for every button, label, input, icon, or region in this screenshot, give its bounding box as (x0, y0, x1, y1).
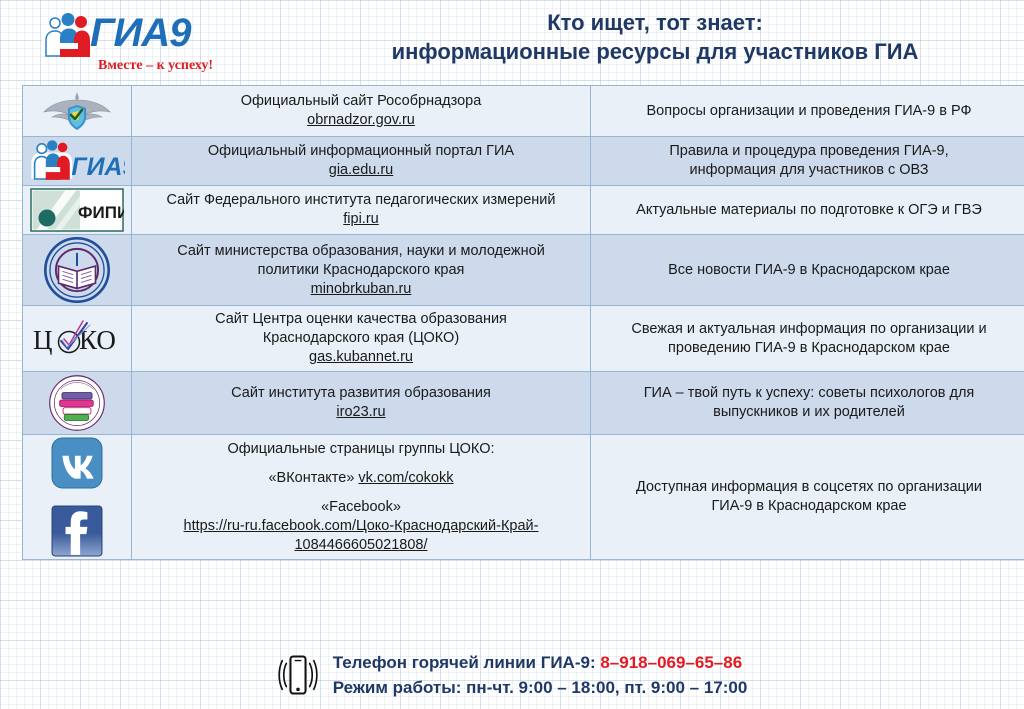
row-logo-cell (23, 86, 132, 137)
desc-line: политики Краснодарского края (138, 261, 584, 280)
minobr-kuban-emblem-icon (44, 237, 110, 303)
site-link[interactable]: iro23.ru (138, 403, 584, 422)
svg-text:КО: КО (79, 325, 116, 355)
facebook-icon[interactable] (51, 505, 103, 557)
hotline-number: 8–918–069–65–86 (600, 653, 742, 672)
row-note-cell: Свежая и актуальная информация по органи… (591, 306, 1024, 372)
gia9-logo-word: ГИА9 (90, 10, 190, 56)
mobile-phone-ringing-icon (277, 651, 319, 699)
gia9-brand-logo: ГИА9 Вместе – к успеху! (34, 6, 214, 74)
row-logo-cell: ФИПИ (23, 186, 132, 235)
desc-line: Официальные страницы группы ЦОКО: (138, 440, 584, 459)
row-note-cell: Актуальные материалы по подготовке к ОГЭ… (591, 186, 1024, 235)
page-title-line1: Кто ищет, тот знает: (300, 8, 1010, 37)
row-note-cell: Все новости ГИА-9 в Краснодарском крае (591, 235, 1024, 306)
resources-table: Официальный сайт Рособрнадзора obrnadzor… (22, 85, 1024, 560)
row-logo-cell (23, 435, 132, 560)
site-link[interactable]: gia.edu.ru (138, 161, 584, 180)
rosobrnadzor-emblem-icon (42, 88, 112, 134)
row-description-cell: Официальный сайт Рособрнадзора obrnadzor… (132, 86, 591, 137)
table-row: Сайт министерства образования, науки и м… (23, 235, 1024, 306)
gia9-logo-tagline: Вместе – к успеху! (98, 58, 213, 74)
note-line: ГИА – твой путь к успеху: советы психоло… (597, 384, 1021, 403)
row-logo-cell: Ц КО (23, 306, 132, 372)
gia9-logo-icon: ГИА9 (29, 139, 125, 183)
note-line: ГИА-9 в Краснодарском крае (597, 497, 1021, 516)
vk-icon[interactable] (51, 437, 103, 489)
table-row: Официальный сайт Рособрнадзора obrnadzor… (23, 86, 1024, 137)
table-row: Ц КО Сайт Центра оценки качества образов… (23, 306, 1024, 372)
table-row: ФИПИ Сайт Федерального института педагог… (23, 186, 1024, 235)
site-link[interactable]: obrnadzor.gov.ru (138, 111, 584, 130)
fb-link-line2[interactable]: 1084466605021808/ (138, 536, 584, 555)
gia9-people-icon (38, 12, 96, 58)
vk-link[interactable]: vk.com/cokokk (358, 470, 453, 486)
desc-line: Сайт института развития образования (138, 384, 584, 403)
note-line: выпускников и их родителей (597, 403, 1021, 422)
vk-label: «ВКонтакте» (268, 470, 354, 486)
desc-line: Краснодарского края (ЦОКО) (138, 329, 584, 348)
row-description-cell: Сайт Центра оценки качества образования … (132, 306, 591, 372)
vk-line: «ВКонтакте» vk.com/cokokk (138, 469, 584, 488)
hotline-footer: Телефон горячей линии ГИА-9: 8–918–069–6… (0, 645, 1024, 705)
row-description-cell: Сайт министерства образования, науки и м… (132, 235, 591, 306)
hotline-hours: Режим работы: пн-чт. 9:00 – 18:00, пт. 9… (333, 675, 748, 700)
page-title: Кто ищет, тот знает: информационные ресу… (300, 8, 1010, 66)
note-line: Вопросы организации и проведения ГИА-9 в… (597, 102, 1021, 121)
fb-label: «Facebook» (138, 498, 584, 517)
table-row: ГИА9 Официальный информационный портал Г… (23, 137, 1024, 186)
desc-line: Сайт министерства образования, науки и м… (138, 242, 584, 261)
table-row: Сайт института развития образования iro2… (23, 372, 1024, 435)
spacer (138, 459, 584, 469)
note-line: Все новости ГИА-9 в Краснодарском крае (597, 261, 1021, 280)
fipi-logo-icon: ФИПИ (30, 188, 124, 232)
note-line: Правила и процедура проведения ГИА-9, (597, 142, 1021, 161)
iro23-emblem-icon (48, 374, 106, 432)
site-link[interactable]: fipi.ru (138, 210, 584, 229)
svg-text:ГИА9: ГИА9 (71, 154, 125, 181)
row-logo-cell: ГИА9 (23, 137, 132, 186)
desc-line: Сайт Федерального института педагогическ… (138, 191, 584, 210)
svg-text:Ц: Ц (33, 325, 53, 355)
fb-link-line1[interactable]: https://ru-ru.facebook.com/Цоко-Краснода… (138, 517, 584, 536)
note-line: Актуальные материалы по подготовке к ОГЭ… (597, 201, 1021, 220)
hotline-text: Телефон горячей линии ГИА-9: 8–918–069–6… (333, 650, 748, 700)
desc-line: Официальный сайт Рособрнадзора (138, 92, 584, 111)
note-line: Доступная информация в соцсетях по орган… (597, 478, 1021, 497)
row-description-cell: Официальные страницы группы ЦОКО: «ВКонт… (132, 435, 591, 560)
row-logo-cell (23, 372, 132, 435)
page-title-line2: информационные ресурсы для участников ГИ… (300, 37, 1010, 66)
note-line: информация для участников с ОВЗ (597, 161, 1021, 180)
site-link[interactable]: gas.kubannet.ru (138, 348, 584, 367)
row-description-cell: Сайт института развития образования iro2… (132, 372, 591, 435)
row-logo-cell (23, 235, 132, 306)
row-note-cell: ГИА – твой путь к успеху: советы психоло… (591, 372, 1024, 435)
row-description-cell: Официальный информационный портал ГИА gi… (132, 137, 591, 186)
coko-logo-icon: Ц КО (31, 316, 123, 362)
desc-line: Сайт Центра оценки качества образования (138, 310, 584, 329)
page-header: ГИА9 Вместе – к успеху! Кто ищет, тот зн… (0, 0, 1024, 80)
row-note-cell: Правила и процедура проведения ГИА-9, ин… (591, 137, 1024, 186)
note-line: проведению ГИА-9 в Краснодарском крае (597, 339, 1021, 358)
row-note-cell: Доступная информация в соцсетях по орган… (591, 435, 1024, 560)
row-description-cell: Сайт Федерального института педагогическ… (132, 186, 591, 235)
hotline-label: Телефон горячей линии ГИА-9: (333, 653, 601, 672)
table-row: Официальные страницы группы ЦОКО: «ВКонт… (23, 435, 1024, 560)
site-link[interactable]: minobrkuban.ru (138, 280, 584, 299)
note-line: Свежая и актуальная информация по органи… (597, 320, 1021, 339)
row-note-cell: Вопросы организации и проведения ГИА-9 в… (591, 86, 1024, 137)
hotline-line: Телефон горячей линии ГИА-9: 8–918–069–6… (333, 650, 748, 675)
svg-text:ФИПИ: ФИПИ (78, 203, 124, 222)
desc-line: Официальный информационный портал ГИА (138, 142, 584, 161)
spacer (138, 488, 584, 498)
